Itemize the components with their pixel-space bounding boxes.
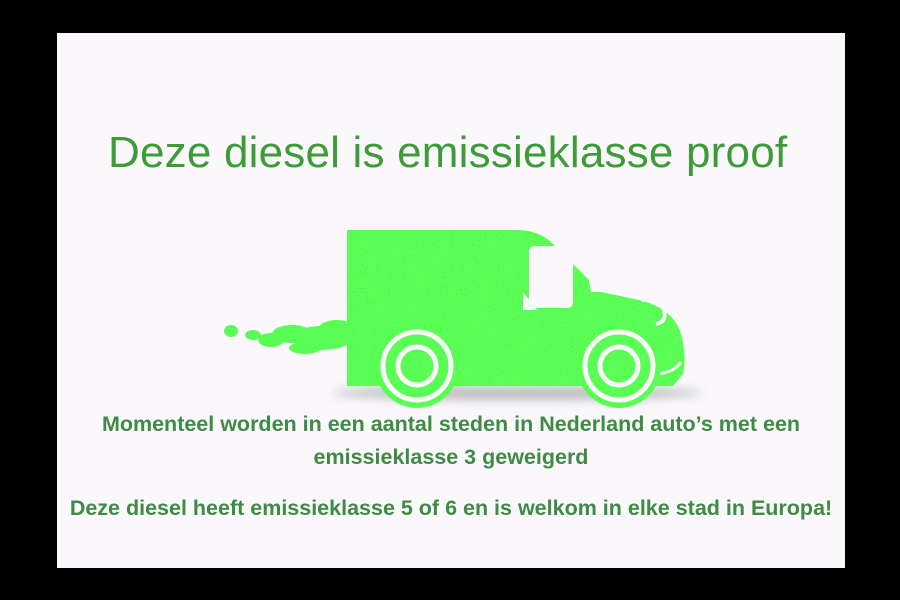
- exhaust-cloud-icon: [224, 320, 355, 354]
- poster-frame: Deze diesel is emissieklasse proof: [0, 0, 900, 600]
- green-grass-van-illustration: [187, 188, 727, 423]
- body-copy: Momenteel worden in een aantal steden in…: [57, 408, 845, 525]
- paragraph-compliance-statement: Deze diesel heeft emissieklasse 5 of 6 e…: [57, 492, 845, 525]
- paragraph-restriction-notice: Momenteel worden in een aantal steden in…: [57, 408, 845, 474]
- van-front-wheel: [577, 324, 661, 408]
- van-rear-wheel: [375, 324, 459, 408]
- poster-panel: Deze diesel is emissieklasse proof: [57, 33, 845, 568]
- page-title: Deze diesel is emissieklasse proof: [108, 128, 808, 178]
